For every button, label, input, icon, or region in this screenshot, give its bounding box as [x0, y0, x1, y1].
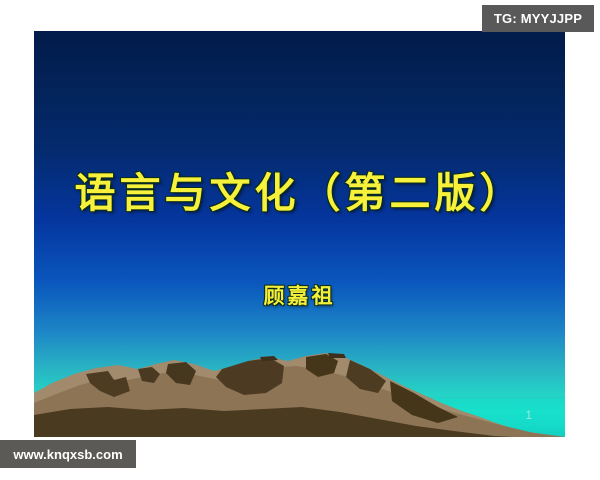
mountain-cap-b: [328, 353, 346, 358]
slide-author: 顾嘉祖: [34, 280, 565, 310]
slide-title: 语言与文化（第二版）: [34, 159, 565, 219]
telegram-watermark-badge: TG: MYYJJPP: [482, 5, 594, 32]
presentation-slide: 语言与文化（第二版） 顾嘉祖 1: [34, 31, 565, 437]
slide-page-number: 1: [525, 408, 532, 422]
website-watermark-badge: www.knqxsb.com: [0, 440, 136, 468]
mountain-range-illustration: [34, 347, 565, 437]
